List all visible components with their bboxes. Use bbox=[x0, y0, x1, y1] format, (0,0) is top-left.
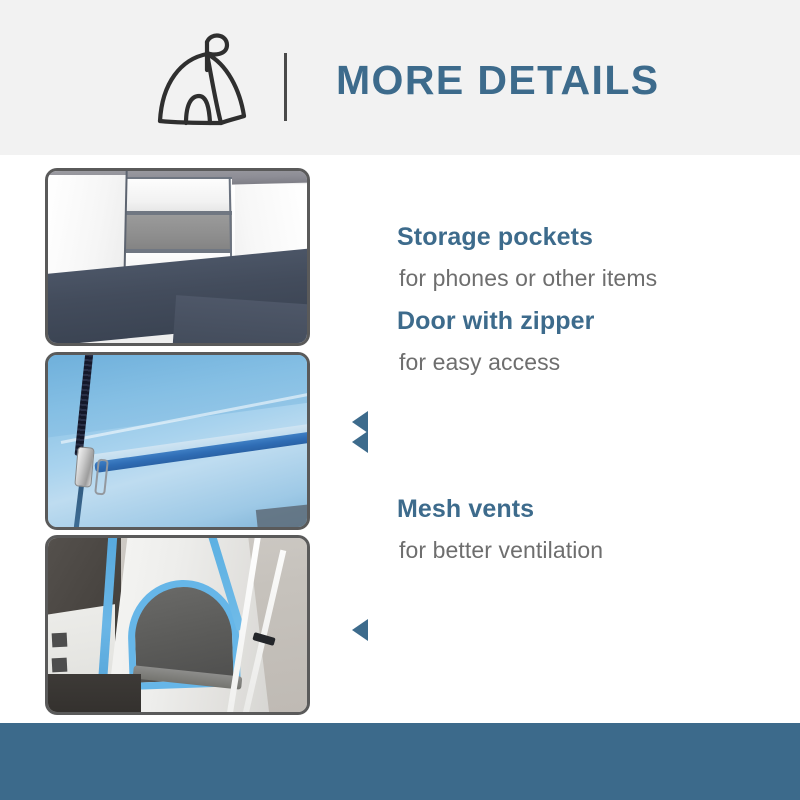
tent-floor-right bbox=[172, 295, 310, 346]
pocket-strip-2 bbox=[51, 657, 66, 672]
feature-subtitle-storage-pockets: for phones or other items bbox=[399, 265, 657, 292]
photo-door-with-zipper bbox=[45, 352, 310, 530]
arrow-icon-mesh-vents bbox=[352, 619, 368, 641]
tent-icon bbox=[145, 28, 265, 138]
pocket-gray-1 bbox=[126, 213, 232, 251]
photo-storage-pockets bbox=[45, 168, 310, 346]
photo-inner bbox=[48, 355, 307, 527]
feature-title-door-with-zipper: Door with zipper bbox=[397, 307, 594, 336]
feature-title-storage-pockets: Storage pockets bbox=[397, 223, 593, 252]
photo-inner bbox=[48, 538, 307, 712]
arrow-icon-door-with-zipper bbox=[352, 431, 368, 453]
header-divider bbox=[284, 53, 287, 121]
feature-subtitle-door-with-zipper: for easy access bbox=[399, 349, 560, 376]
photo-mesh-vents bbox=[45, 535, 310, 715]
tent-base-shadow bbox=[48, 674, 141, 712]
photo-inner bbox=[48, 171, 307, 343]
pocket-white-1 bbox=[126, 177, 232, 213]
feature-subtitle-mesh-vents: for better ventilation bbox=[399, 537, 603, 564]
footer-band bbox=[0, 723, 800, 800]
page-header: MORE DETAILS bbox=[0, 0, 800, 155]
pocket-strip-1 bbox=[51, 633, 66, 648]
feature-title-mesh-vents: Mesh vents bbox=[397, 495, 534, 524]
page-title: MORE DETAILS bbox=[336, 58, 660, 103]
arrow-icon-storage-pockets bbox=[352, 411, 368, 433]
zipper-slider bbox=[74, 446, 94, 487]
